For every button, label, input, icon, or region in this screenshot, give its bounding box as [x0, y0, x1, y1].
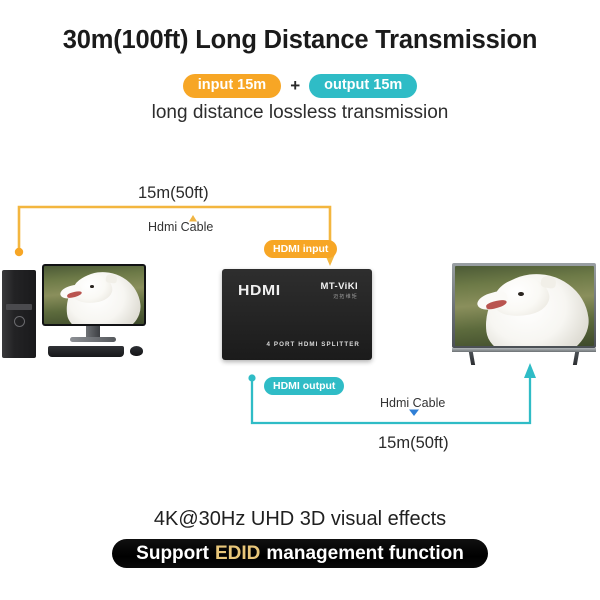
pc-tower-slot	[6, 304, 32, 310]
monitor	[42, 264, 146, 326]
badge-output: output 15m	[309, 74, 417, 98]
plus-sign: +	[290, 76, 300, 96]
tv-leg-left	[469, 352, 475, 365]
mouse	[130, 346, 143, 356]
source-computer	[0, 260, 150, 368]
footer-feature-pill: Support EDID management function	[112, 539, 488, 568]
hdmi-input-tag: HDMI input	[264, 240, 337, 258]
tv-leg-right	[573, 352, 579, 365]
bottom-length-label: 15m(50ft)	[378, 434, 449, 453]
footer-pill-suffix: management function	[266, 543, 463, 565]
footer-pill-highlight: EDID	[215, 543, 260, 565]
hdmi-output-tag: HDMI output	[264, 377, 344, 395]
pc-power-icon	[14, 316, 25, 327]
tv-screen-image	[455, 266, 594, 346]
output-path-start-dot	[248, 374, 255, 381]
device-brand-name: MT-ViKI	[321, 281, 358, 292]
footer-pill-prefix: Support	[136, 543, 209, 565]
top-length-label: 15m(50ft)	[138, 184, 209, 203]
footer-tagline: 4K@30Hz UHD 3D visual effects	[0, 508, 600, 531]
monitor-base	[70, 337, 116, 342]
device-brand-sub: 迈拓维矩	[321, 293, 358, 300]
input-path-start-dot	[15, 248, 23, 256]
pc-tower	[2, 270, 36, 358]
hdmi-splitter-device: HDMI MT-ViKI 迈拓维矩 4 PORT HDMI SPLITTER	[222, 269, 372, 360]
bottom-cable-label: Hdmi Cable	[380, 396, 445, 410]
badge-input: input 15m	[183, 74, 281, 98]
badge-row: input 15m + output 15m	[0, 74, 600, 98]
keyboard	[48, 346, 124, 357]
display-tv	[452, 263, 596, 365]
tv-frame	[452, 263, 596, 348]
device-model-label: 4 PORT HDMI SPLITTER	[266, 341, 360, 348]
page-title: 30m(100ft) Long Distance Transmission	[0, 26, 600, 55]
output-path-arrow	[524, 363, 536, 378]
top-cable-label: Hdmi Cable	[148, 220, 213, 234]
monitor-screen-image	[44, 266, 144, 324]
bottom-cable-marker	[409, 410, 419, 417]
product-infographic: 30m(100ft) Long Distance Transmission in…	[0, 0, 600, 600]
page-subtitle: long distance lossless transmission	[0, 102, 600, 124]
device-brand: MT-ViKI 迈拓维矩	[321, 281, 358, 300]
hdmi-logo: HDMI	[238, 282, 281, 299]
